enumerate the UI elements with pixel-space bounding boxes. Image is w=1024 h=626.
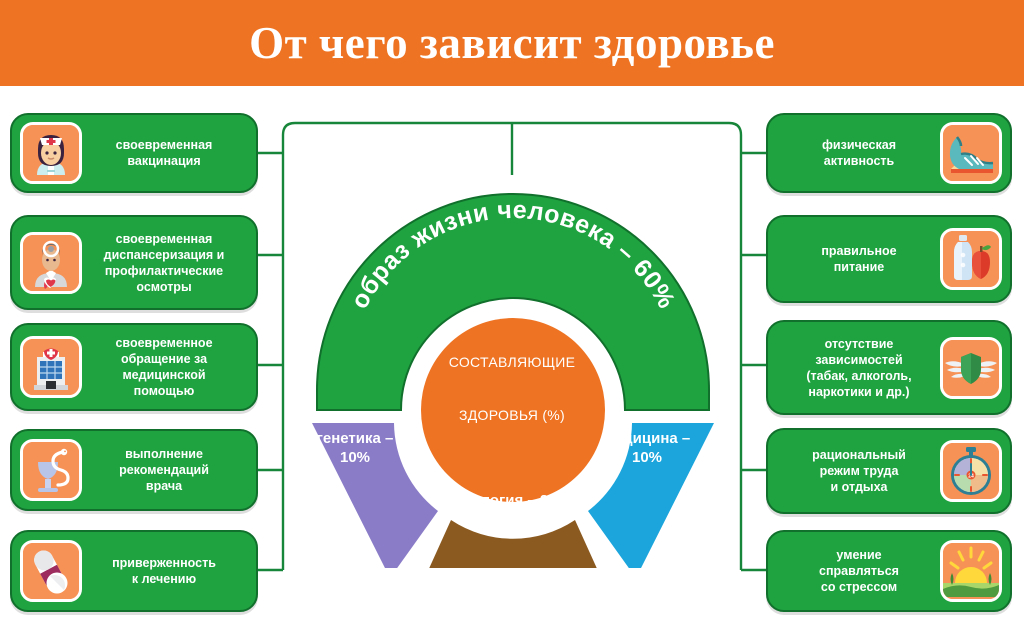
running-shoe-icon [940,122,1002,184]
card-left-3-label: своевременное обращение за медицинской п… [82,335,246,399]
card-left-3[interactable]: своевременное обращение за медицинской п… [10,323,258,411]
winged-shield-icon [940,337,1002,399]
card-right-3-label: отсутствие зависимостей (табак, алкоголь… [778,336,940,400]
card-right-3[interactable]: отсутствие зависимостей (табак, алкоголь… [766,320,1012,415]
nurse-icon [20,122,82,184]
card-right-1-label: физическая активность [778,137,940,169]
card-left-2-label: своевременная диспансеризация и профилак… [82,231,246,295]
card-right-4[interactable]: рациональный режим труда и отдыха [766,428,1012,514]
hospital-icon [20,336,82,398]
page-title: От чего зависит здоровье [249,21,775,66]
doctor-icon [20,232,82,294]
sunrise-icon [940,540,1002,602]
card-right-1[interactable]: физическая активность [766,113,1012,193]
card-right-2[interactable]: правильное питание [766,215,1012,303]
bowl-of-hygieia-icon [20,439,82,501]
card-right-2-label: правильное питание [778,243,940,275]
health-components-donut: образ жизни человека – 60% [288,168,738,568]
segment-ecology [408,520,618,568]
page-header: От чего зависит здоровье [0,0,1024,86]
card-left-5-label: приверженность к лечению [82,555,246,587]
card-left-1-label: своевременная вакцинация [82,137,246,169]
card-left-4-label: выполнение рекомендаций врача [82,446,246,494]
card-left-5[interactable]: приверженность к лечению [10,530,258,612]
card-right-5-label: умение справляться со стрессом [778,547,940,595]
infographic-page: От чего зависит здоровье [0,0,1024,626]
card-right-5[interactable]: умение справляться со стрессом [766,530,1012,612]
center-circle [421,318,605,502]
card-left-2[interactable]: своевременная диспансеризация и профилак… [10,215,258,310]
water-bottle-apple-icon [940,228,1002,290]
stopwatch-icon: 24 [940,440,1002,502]
card-left-1[interactable]: своевременная вакцинация [10,113,258,193]
card-left-4[interactable]: выполнение рекомендаций врача [10,429,258,511]
pills-icon [20,540,82,602]
card-right-4-label: рациональный режим труда и отдыха [778,447,940,495]
